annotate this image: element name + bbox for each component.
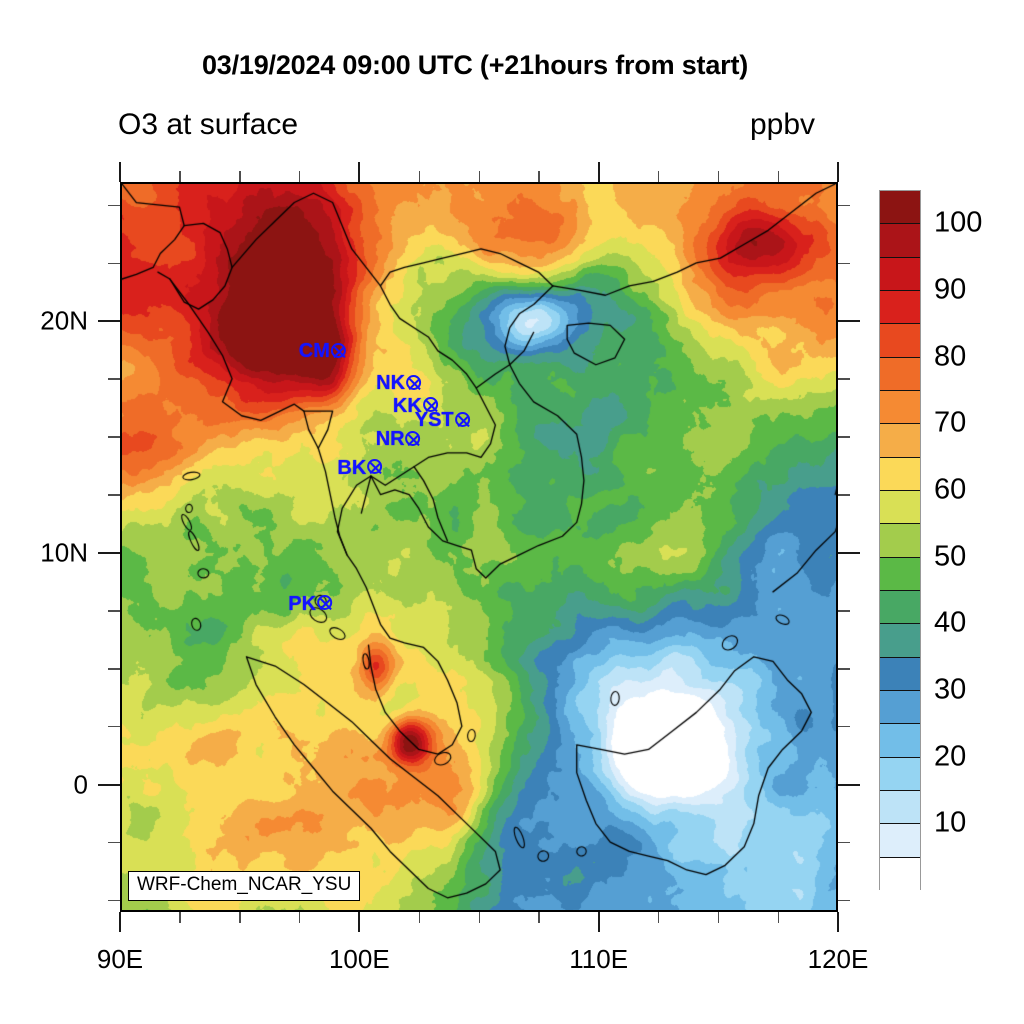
y-axis-tick-label: 10N [40, 537, 88, 568]
colorbar-band [880, 491, 920, 524]
axis-tick-minor [538, 912, 539, 923]
units-label: ppbv [750, 108, 815, 142]
ozone-map-figure: 03/19/2024 09:00 UTC (+21hours from star… [0, 0, 1024, 1024]
station-label: NR [376, 429, 405, 449]
axis-tick-minor [838, 668, 850, 669]
axis-tick-major [837, 912, 839, 932]
axis-tick-minor [299, 912, 300, 923]
axis-tick-minor [108, 726, 120, 727]
colorbar-band [880, 358, 920, 391]
station-label: CM [299, 341, 330, 361]
y-axis-tick-label: 20N [40, 306, 88, 337]
axis-tick-minor [239, 171, 240, 182]
axis-tick-minor [179, 912, 180, 923]
station-label: PK [288, 594, 316, 614]
axis-tick-minor [838, 900, 850, 901]
colorbar-band [880, 258, 920, 291]
axis-tick-minor [108, 668, 120, 669]
x-axis-tick-label: 100E [329, 944, 390, 975]
y-axis-tick-label: 0 [74, 769, 88, 800]
variable-label: O3 at surface [118, 108, 298, 142]
axis-tick-minor [778, 912, 779, 923]
colorbar-tick-label: 60 [934, 474, 966, 507]
colorbar-band [880, 558, 920, 591]
axis-tick-major [837, 162, 839, 182]
axis-tick-minor [838, 205, 850, 206]
colorbar-band [880, 524, 920, 557]
colorbar-band [880, 324, 920, 357]
station-marker-bk[interactable]: BK [337, 458, 384, 478]
axis-tick-major [358, 912, 360, 932]
axis-tick-minor [108, 378, 120, 379]
colorbar-band [880, 391, 920, 424]
colorbar-tick-label: 90 [934, 274, 966, 307]
colorbar-band [880, 758, 920, 791]
circled-x-icon [367, 459, 384, 476]
circled-x-icon [406, 375, 423, 392]
colorbar-band [880, 624, 920, 657]
axis-tick-major [598, 162, 600, 182]
axis-tick-minor [838, 726, 850, 727]
axis-tick-minor [108, 263, 120, 264]
axis-tick-minor [838, 842, 850, 843]
x-axis-tick-label: 110E [569, 944, 628, 975]
axis-tick-minor [179, 171, 180, 182]
station-label: NK [376, 373, 405, 393]
colorbar-band [880, 591, 920, 624]
colorbar-tick-label: 40 [934, 607, 966, 640]
colorbar-tick-label: 50 [934, 540, 966, 573]
colorbar-band [880, 291, 920, 324]
axis-tick-major [838, 552, 860, 554]
colorbar-band [880, 858, 920, 891]
axis-tick-major [598, 912, 600, 932]
axis-tick-minor [838, 610, 850, 611]
axis-tick-minor [838, 263, 850, 264]
station-label: BK [337, 458, 366, 478]
axis-tick-minor [108, 205, 120, 206]
axis-tick-major [838, 320, 860, 322]
axis-tick-minor [108, 494, 120, 495]
axis-tick-minor [658, 171, 659, 182]
circled-x-icon [455, 412, 472, 429]
axis-tick-minor [108, 900, 120, 901]
colorbar[interactable] [879, 190, 921, 890]
colorbar-tick-label: 100 [934, 207, 982, 240]
circled-x-icon [331, 343, 348, 360]
colorbar-tick-label: 10 [934, 807, 966, 840]
axis-tick-minor [479, 171, 480, 182]
station-marker-nr[interactable]: NR [376, 429, 423, 449]
circled-x-icon [406, 431, 423, 448]
axis-tick-minor [838, 378, 850, 379]
axis-tick-major [98, 320, 120, 322]
colorbar-tick-label: 70 [934, 407, 966, 440]
station-marker-nk[interactable]: NK [376, 373, 423, 393]
axis-tick-minor [419, 912, 420, 923]
axis-tick-major [98, 552, 120, 554]
circled-x-icon [317, 595, 334, 612]
axis-tick-major [119, 912, 121, 932]
colorbar-band [880, 658, 920, 691]
axis-tick-major [358, 162, 360, 182]
page-title: 03/19/2024 09:00 UTC (+21hours from star… [0, 50, 950, 81]
colorbar-band [880, 458, 920, 491]
axis-tick-major [119, 162, 121, 182]
x-axis-tick-label: 90E [97, 944, 143, 975]
station-label: YST [415, 410, 454, 430]
colorbar-band [880, 791, 920, 824]
axis-tick-minor [419, 171, 420, 182]
station-marker-cm[interactable]: CM [299, 341, 348, 361]
axis-tick-minor [718, 171, 719, 182]
axis-tick-minor [718, 912, 719, 923]
axis-tick-minor [108, 842, 120, 843]
axis-tick-minor [239, 912, 240, 923]
x-axis-tick-label: 120E [808, 944, 869, 975]
axis-tick-major [98, 784, 120, 786]
ozone-contour-field [122, 184, 838, 912]
colorbar-tick-label: 80 [934, 340, 966, 373]
axis-tick-minor [538, 171, 539, 182]
axis-tick-minor [108, 436, 120, 437]
axis-tick-minor [658, 912, 659, 923]
colorbar-tick-label: 20 [934, 740, 966, 773]
colorbar-band [880, 724, 920, 757]
map-plot-area[interactable]: CMNKKKYSTNRBKPK WRF-Chem_NCAR_YSU [120, 182, 838, 912]
axis-tick-major [838, 784, 860, 786]
model-watermark: WRF-Chem_NCAR_YSU [128, 871, 360, 901]
station-marker-yst[interactable]: YST [415, 410, 472, 430]
colorbar-band [880, 224, 920, 257]
colorbar-band [880, 691, 920, 724]
axis-tick-minor [479, 912, 480, 923]
axis-tick-minor [838, 494, 850, 495]
colorbar-tick-label: 30 [934, 674, 966, 707]
axis-tick-minor [778, 171, 779, 182]
colorbar-band [880, 424, 920, 457]
colorbar-band [880, 191, 920, 224]
colorbar-band [880, 824, 920, 857]
axis-tick-minor [108, 610, 120, 611]
station-marker-pk[interactable]: PK [288, 594, 334, 614]
axis-tick-minor [299, 171, 300, 182]
axis-tick-minor [838, 436, 850, 437]
